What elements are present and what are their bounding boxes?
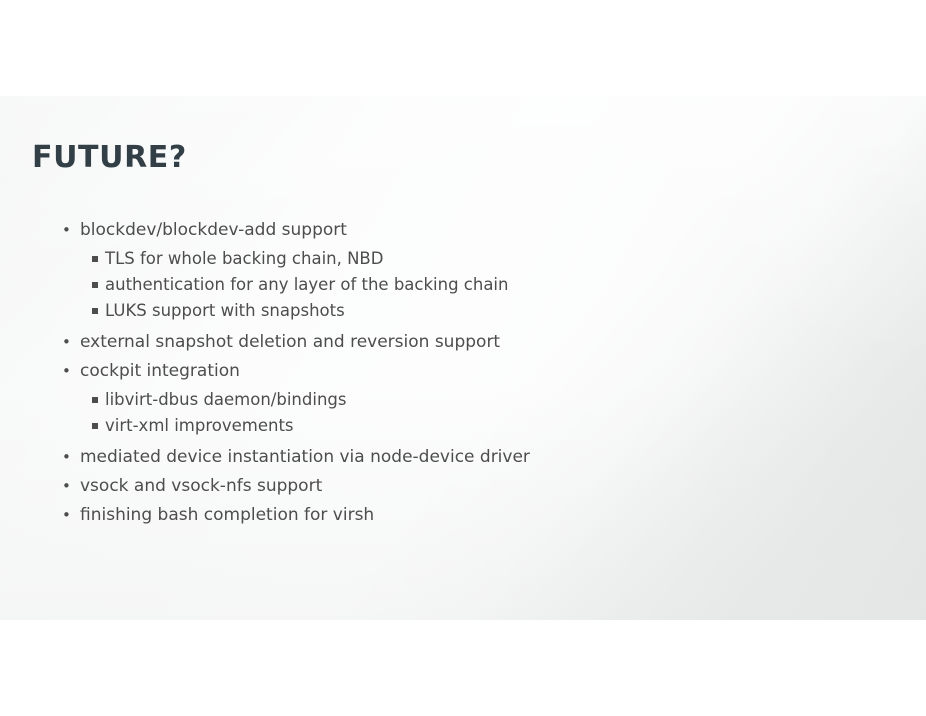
- bullet-item-label: external snapshot deletion and reversion…: [80, 328, 500, 357]
- slide-root: FUTURE? •blockdev/blockdev-add supportTL…: [0, 0, 926, 716]
- bullet-item-level-1: •finishing bash completion for virsh: [0, 501, 880, 530]
- bullet-item-level-1: •cockpit integration: [0, 357, 880, 386]
- bullet-item-label: authentication for any layer of the back…: [105, 272, 508, 298]
- disc-bullet-icon: •: [62, 216, 80, 245]
- disc-bullet-icon: •: [62, 328, 80, 357]
- bullet-item-level-1: •vsock and vsock-nfs support: [0, 472, 880, 501]
- bullet-item-label: virt-xml improvements: [105, 413, 294, 439]
- bullet-item-level-2: libvirt-dbus daemon/bindings: [0, 387, 880, 413]
- bullet-item-level-1: •blockdev/blockdev-add support: [0, 216, 880, 245]
- bullet-item-level-2: authentication for any layer of the back…: [0, 272, 880, 298]
- bullet-item-label: TLS for whole backing chain, NBD: [105, 246, 383, 272]
- bullet-item-label: vsock and vsock-nfs support: [80, 472, 322, 501]
- bullet-item-label: mediated device instantiation via node-d…: [80, 443, 530, 472]
- bullet-item-label: libvirt-dbus daemon/bindings: [105, 387, 346, 413]
- bullet-item-level-2: virt-xml improvements: [0, 413, 880, 439]
- disc-bullet-icon: •: [62, 357, 80, 386]
- bullet-item-label: cockpit integration: [80, 357, 240, 386]
- bullet-item-level-1: •mediated device instantiation via node-…: [0, 443, 880, 472]
- disc-bullet-icon: •: [62, 501, 80, 530]
- slide-content: FUTURE? •blockdev/blockdev-add supportTL…: [0, 0, 926, 716]
- bullet-item-label: finishing bash completion for virsh: [80, 501, 374, 530]
- bullet-item-level-2: TLS for whole backing chain, NBD: [0, 246, 880, 272]
- bullet-item-label: blockdev/blockdev-add support: [80, 216, 347, 245]
- bullet-item-level-1: •external snapshot deletion and reversio…: [0, 328, 880, 357]
- slide-title: FUTURE?: [32, 140, 187, 175]
- disc-bullet-icon: •: [62, 472, 80, 501]
- bullet-item-level-2: LUKS support with snapshots: [0, 298, 880, 324]
- bullet-item-label: LUKS support with snapshots: [105, 298, 345, 324]
- disc-bullet-icon: •: [62, 443, 80, 472]
- bullet-list: •blockdev/blockdev-add supportTLS for wh…: [0, 216, 880, 530]
